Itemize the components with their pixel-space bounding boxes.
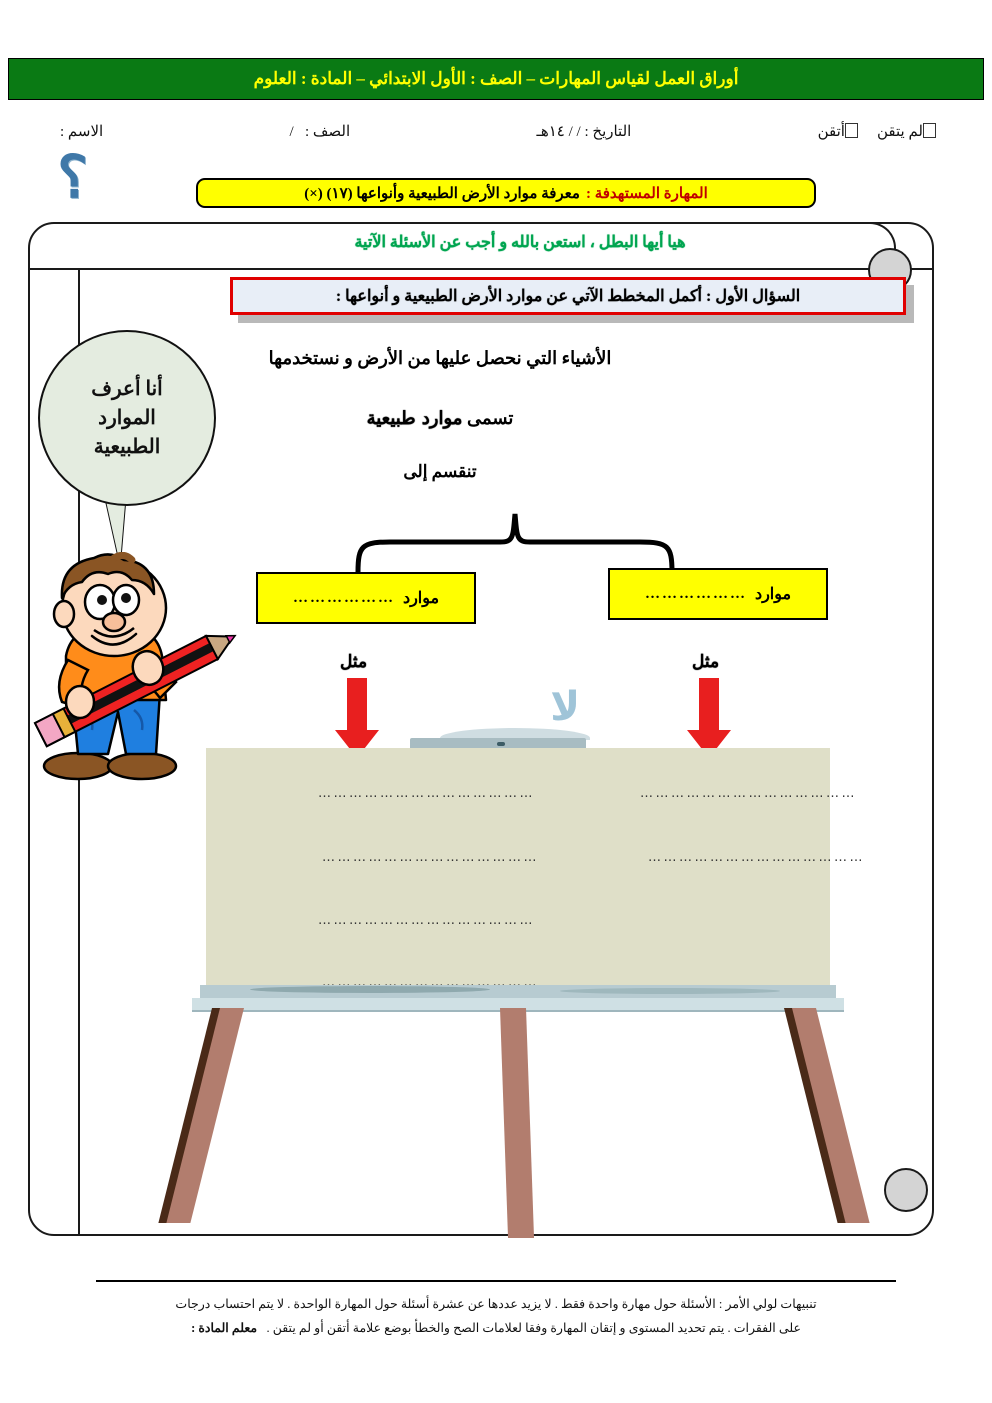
answer-line-right-2[interactable]: …………………………………… — [648, 850, 865, 865]
footer-line-2: على الفقرات . يتم تحديد المستوى و إتقان … — [96, 1316, 896, 1340]
speech-bubble-line-2: الموارد — [98, 404, 156, 433]
date-field[interactable]: التاريخ : / / ١٤هـ — [536, 122, 631, 141]
not-mastered-label: لم يتقن — [877, 124, 923, 140]
answer-line-left-2[interactable]: …………………………………… — [322, 850, 539, 865]
target-skill-label: المهارة المستهدفة : — [586, 184, 708, 203]
speech-bubble-line-1: أنا أعرف — [91, 375, 162, 404]
board-surface[interactable] — [206, 748, 830, 988]
diagram-line-2-emphasis: موارد طبيعية — [367, 408, 463, 429]
answer-line-left-1[interactable]: …………………………………… — [318, 786, 535, 801]
frame-divider — [28, 268, 934, 270]
boy-mascot-illustration — [22, 552, 262, 784]
footer-notes: تنبيهات لولي الأمر : الأسئلة حول مهارة و… — [96, 1292, 896, 1341]
scroll-curl-bottom-right-icon — [884, 1168, 928, 1212]
resource-box-left[interactable]: موارد ……………… — [256, 572, 476, 624]
title-banner: أوراق العمل لقياس المهارات – الصف : الأو… — [8, 58, 984, 100]
question-box: السؤال الأول : أكمل المخطط الآتي عن موار… — [230, 277, 906, 315]
class-label: الصف : — [305, 124, 350, 140]
target-skill-banner: المهارة المستهدفة : معرفة موارد الأرض ال… — [196, 178, 816, 208]
speech-bubble: أنا أعرف الموارد الطبيعية — [38, 330, 216, 506]
date-label: التاريخ : — [584, 124, 631, 140]
footer-teacher-label: معلم المادة : — [191, 1321, 257, 1335]
example-label-right: مثل — [692, 652, 719, 672]
mastered-checkbox[interactable] — [845, 123, 858, 138]
question-text: السؤال الأول : أكمل المخطط الآتي عن موار… — [336, 286, 800, 306]
footer-line-1: تنبيهات لولي الأمر : الأسئلة حول مهارة و… — [96, 1292, 896, 1316]
mastery-checkboxes[interactable]: لم يتقن أتقن — [818, 122, 940, 141]
footer-line-2-text: على الفقرات . يتم تحديد المستوى و إتقان … — [266, 1321, 800, 1335]
name-field[interactable]: الاسم : — [60, 122, 103, 141]
question-mark-icon: ؟ — [44, 148, 88, 208]
student-info-row: لم يتقن أتقن التاريخ : / / ١٤هـ الصف : /… — [60, 118, 940, 144]
class-value: / — [290, 124, 294, 140]
banner-title: أوراق العمل لقياس المهارات – الصف : الأو… — [254, 69, 739, 89]
not-mastered-checkbox[interactable] — [923, 123, 936, 138]
resource-box-right-word: موارد — [755, 584, 791, 604]
date-value: / / ١٤هـ — [536, 124, 580, 140]
speech-bubble-line-3: الطبيعية — [94, 433, 161, 462]
target-skill-value: معرفة موارد الأرض الطبيعية وأنواعها (١٧)… — [304, 184, 580, 203]
board-tray-highlight-b — [560, 988, 780, 994]
board-scribble: لا — [470, 685, 580, 733]
resource-box-left-word: موارد — [403, 588, 439, 608]
answer-line-left-3[interactable]: …………………………………… — [318, 913, 535, 928]
class-field[interactable]: الصف : / — [290, 122, 351, 141]
footer-divider — [96, 1280, 896, 1282]
diagram-line-2-prefix: تسمى — [467, 408, 513, 428]
split-bracket — [350, 512, 680, 574]
resource-box-left-blank: ……………… — [293, 590, 395, 607]
worksheet-page: أوراق العمل لقياس المهارات – الصف : الأو… — [0, 0, 992, 1403]
answer-line-right-1[interactable]: …………………………………… — [640, 786, 857, 801]
resource-box-right[interactable]: موارد ……………… — [608, 568, 828, 620]
name-label: الاسم : — [60, 124, 103, 140]
example-label-left: مثل — [340, 652, 367, 672]
instruction-text: هيا أيها البطل ، استعن بالله و أجب عن ال… — [210, 228, 830, 256]
mastered-label: أتقن — [818, 124, 845, 140]
board-tray-highlight-a — [250, 986, 490, 993]
board-clip-icon — [497, 742, 505, 746]
resource-box-right-blank: ……………… — [645, 586, 747, 603]
